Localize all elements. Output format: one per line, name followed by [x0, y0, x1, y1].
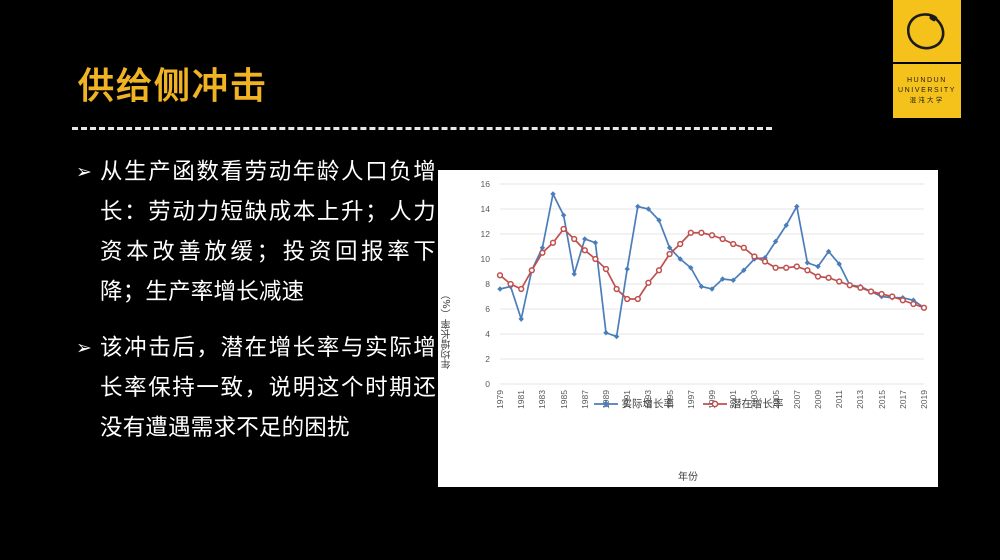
data-point-marker	[773, 265, 778, 270]
logo-line-university: UNIVERSITY	[898, 87, 956, 95]
data-point-marker	[572, 237, 577, 242]
chart-legend: 实际增长率潜在增长率	[438, 398, 938, 410]
title-divider	[72, 127, 772, 130]
bullet-text-1: 从生产函数看劳动年龄人口负增长：劳动力短缺成本上升；人力资本改善放缓；投资回报率…	[100, 152, 436, 312]
legend-item[interactable]: 潜在增长率	[702, 398, 784, 410]
data-point-marker	[540, 250, 545, 255]
data-point-marker	[614, 287, 619, 292]
data-point-marker	[635, 204, 640, 209]
bullet-list: ➢ 从生产函数看劳动年龄人口负增长：劳动力短缺成本上升；人力资本改善放缓；投资回…	[74, 152, 436, 464]
arrow-bullet-icon: ➢	[74, 152, 100, 192]
data-point-marker	[614, 334, 619, 339]
growth-rate-chart: 年均增长率（%） 1614121086420 19791981198319851…	[438, 170, 938, 487]
data-point-marker	[604, 267, 609, 272]
data-point-marker	[646, 280, 651, 285]
logo-line-hundun: HUNDUN	[907, 77, 947, 85]
data-point-marker	[784, 265, 789, 270]
data-point-marker	[826, 275, 831, 280]
data-point-marker	[657, 268, 662, 273]
data-point-marker	[710, 233, 715, 238]
data-point-marker	[519, 316, 524, 321]
data-point-marker	[508, 282, 513, 287]
data-point-marker	[847, 283, 852, 288]
hundun-university-logo: HUNDUN UNIVERSITY 混沌大学	[893, 0, 961, 118]
legend-label: 潜在增长率	[731, 399, 784, 410]
legend-label: 实际增长率	[622, 399, 675, 410]
data-point-marker	[625, 297, 630, 302]
data-point-marker	[667, 252, 672, 257]
data-point-marker	[794, 264, 799, 269]
data-point-marker	[869, 289, 874, 294]
data-point-marker	[741, 245, 746, 250]
arrow-bullet-icon: ➢	[74, 328, 100, 368]
data-point-marker	[688, 230, 693, 235]
list-item: ➢ 从生产函数看劳动年龄人口负增长：劳动力短缺成本上升；人力资本改善放缓；投资回…	[74, 152, 436, 312]
enso-circle-icon	[904, 11, 950, 51]
data-series-group	[497, 191, 926, 339]
data-point-marker	[593, 240, 598, 245]
data-point-marker	[837, 279, 842, 284]
data-point-marker	[699, 230, 704, 235]
data-point-marker	[603, 330, 608, 335]
legend-item[interactable]: 实际增长率	[593, 398, 675, 410]
bullet-text-2: 该冲击后，潜在增长率与实际增长率保持一致，说明这个时期还没有遭遇需求不足的困扰	[100, 328, 436, 448]
data-point-marker	[582, 248, 587, 253]
series-line	[500, 229, 924, 308]
data-point-marker	[582, 236, 587, 241]
data-point-marker	[497, 286, 502, 291]
data-point-marker	[551, 240, 556, 245]
data-point-marker	[879, 292, 884, 297]
data-point-marker	[911, 302, 916, 307]
legend-marker-icon	[593, 398, 619, 410]
data-point-marker	[731, 242, 736, 247]
data-point-marker	[805, 260, 810, 265]
data-point-marker	[922, 305, 927, 310]
logo-line-chinese: 混沌大学	[910, 97, 945, 105]
data-point-marker	[900, 298, 905, 303]
data-point-marker	[498, 273, 503, 278]
data-point-marker	[529, 268, 534, 273]
data-point-marker	[625, 266, 630, 271]
data-point-marker	[572, 271, 577, 276]
logo-mark-panel	[893, 0, 961, 62]
data-point-marker	[805, 268, 810, 273]
data-point-marker	[752, 254, 757, 259]
data-point-marker	[858, 285, 863, 290]
list-item: ➢ 该冲击后，潜在增长率与实际增长率保持一致，说明这个时期还没有遭遇需求不足的困…	[74, 328, 436, 448]
data-point-marker	[678, 242, 683, 247]
data-point-marker	[561, 227, 566, 232]
data-point-marker	[816, 274, 821, 279]
data-point-marker	[763, 259, 768, 264]
data-point-marker	[635, 297, 640, 302]
data-point-marker	[593, 257, 598, 262]
data-point-marker	[890, 294, 895, 299]
logo-text-panel: HUNDUN UNIVERSITY 混沌大学	[893, 64, 961, 118]
data-point-marker	[519, 287, 524, 292]
data-point-marker	[720, 237, 725, 242]
x-axis-title: 年份	[438, 468, 938, 483]
plot-area	[438, 170, 938, 487]
legend-marker-icon	[702, 398, 728, 410]
slide-title: 供给侧冲击	[78, 66, 268, 107]
